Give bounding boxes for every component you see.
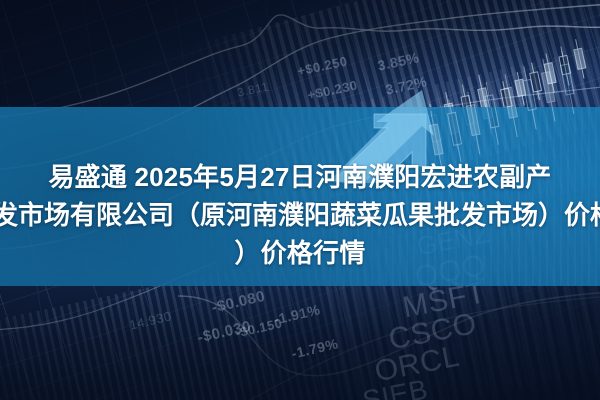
banner-image: +$0.250 3.85% +$0.230 3.72% 3.811 -$0.08… [0,0,600,400]
headline-line-3: ）价格行情 [0,234,600,272]
headline-line-2: 发市场有限公司（原河南濮阳蔬菜瓜果批发市场）价格 [0,196,600,234]
headline-line-1: 易盛通 2025年5月27日河南濮阳宏进农副产 [0,158,600,196]
headline-text: 易盛通 2025年5月27日河南濮阳宏进农副产 发市场有限公司（原河南濮阳蔬菜瓜… [0,158,600,272]
